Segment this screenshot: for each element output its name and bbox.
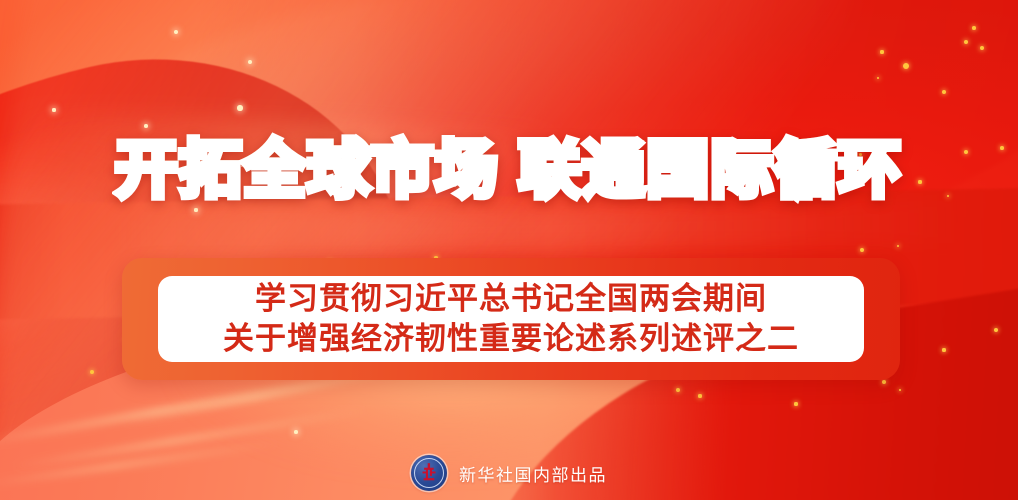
- subtitle-frame: 学习贯彻习近平总书记全国两会期间 关于增强经济韧性重要论述系列述评之二: [122, 258, 900, 380]
- gold-particle: [980, 46, 984, 50]
- gold-particle: [237, 105, 242, 110]
- gold-particle: [294, 430, 298, 434]
- gold-particle: [248, 60, 252, 64]
- gold-particle: [698, 394, 701, 397]
- gold-particle: [90, 370, 94, 374]
- gold-particle: [994, 328, 998, 332]
- xinhua-logo-icon: [411, 455, 447, 491]
- gold-particle: [880, 50, 883, 53]
- subtitle-line-1: 学习贯彻习近平总书记全国两会期间: [255, 280, 767, 318]
- gold-particle: [903, 63, 909, 69]
- subtitle-card: 学习贯彻习近平总书记全国两会期间 关于增强经济韧性重要论述系列述评之二: [158, 276, 864, 362]
- gold-particle: [52, 108, 55, 111]
- gold-particle: [144, 124, 148, 128]
- subtitle-line-2: 关于增强经济韧性重要论述系列述评之二: [223, 320, 799, 358]
- footer-credit: 新华社国内部出品: [0, 455, 1018, 491]
- gold-particle: [794, 402, 797, 405]
- logo-tower-glyph: [421, 463, 438, 482]
- headline-container: 开拓全球市场 联通国际循环: [0, 138, 1018, 203]
- news-poster: 开拓全球市场 联通国际循环 学习贯彻习近平总书记全国两会期间 关于增强经济韧性重…: [0, 0, 1018, 500]
- footer-text: 新华社国内部出品: [459, 461, 607, 486]
- gold-particle: [942, 348, 945, 351]
- gold-particle: [972, 26, 976, 30]
- page-title: 开拓全球市场 联通国际循环: [115, 138, 902, 203]
- gold-particle: [194, 208, 197, 211]
- gold-particle: [860, 248, 864, 252]
